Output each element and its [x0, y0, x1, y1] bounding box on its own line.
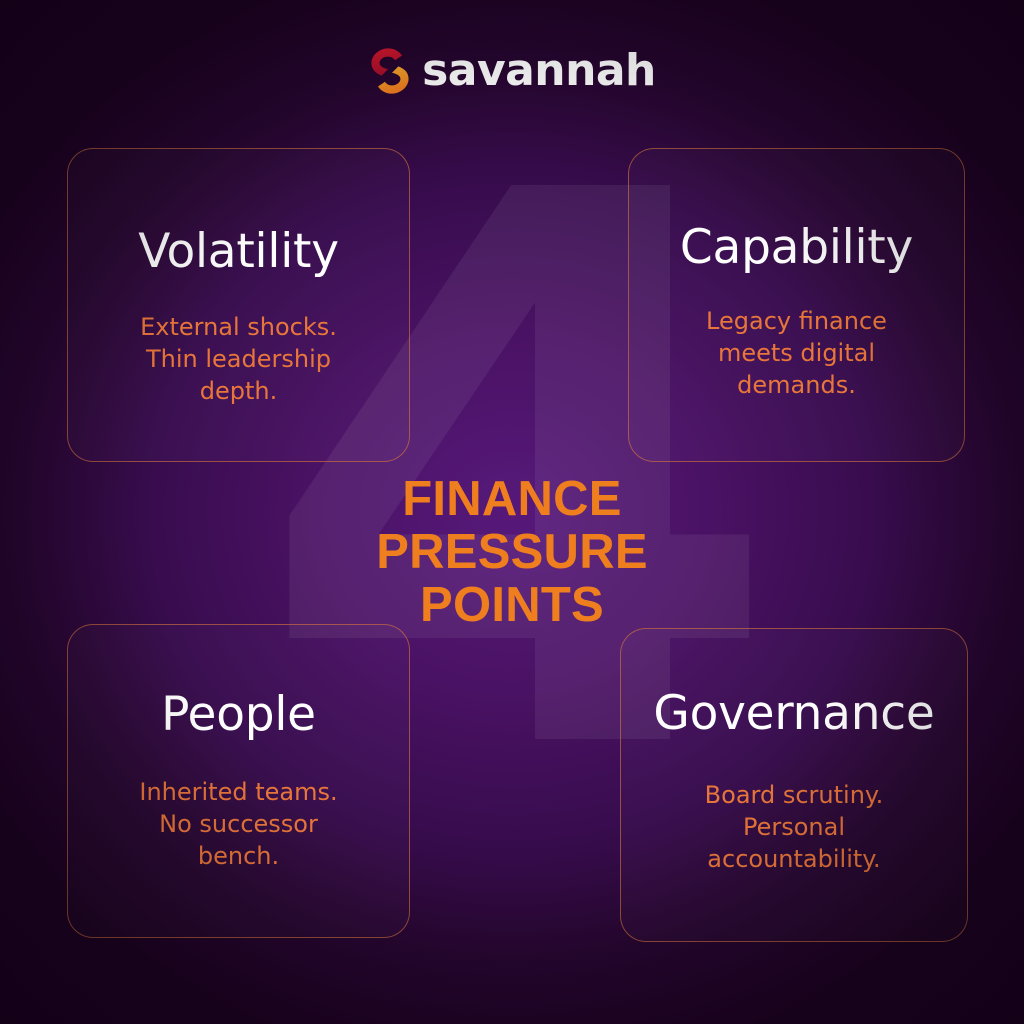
- card-description: Board scrutiny. Personal accountability.: [705, 780, 884, 876]
- card-description-line: meets digital: [718, 339, 875, 367]
- card-title: Volatility: [138, 227, 339, 278]
- card-volatility[interactable]: Volatility External shocks. Thin leaders…: [67, 148, 410, 462]
- card-people[interactable]: People Inherited teams. No successor ben…: [67, 624, 410, 938]
- card-description-line: Inherited teams.: [139, 778, 337, 806]
- headline-line-3: POINTS: [282, 579, 742, 632]
- card-description-line: Legacy finance: [706, 307, 887, 335]
- savannah-s-logo-icon: [368, 46, 412, 96]
- card-title: Governance: [653, 689, 934, 740]
- brand-logo: savannah: [0, 40, 1024, 102]
- card-description-line: accountability.: [707, 845, 880, 873]
- card-description-line: demands.: [737, 371, 856, 399]
- card-description-line: Personal: [743, 813, 845, 841]
- card-description-line: No successor: [159, 810, 318, 838]
- card-description-line: External shocks.: [140, 313, 337, 341]
- card-description-line: Thin leadership: [146, 345, 331, 373]
- card-description-line: bench.: [198, 842, 279, 870]
- card-description-line: Board scrutiny.: [705, 781, 884, 809]
- brand-wordmark: savannah: [422, 49, 656, 93]
- card-description: External shocks. Thin leadership depth.: [140, 312, 337, 408]
- card-description-line: depth.: [200, 377, 277, 405]
- headline-line-1: FINANCE: [282, 473, 742, 526]
- card-title: Capability: [680, 223, 913, 274]
- card-capability[interactable]: Capability Legacy finance meets digital …: [628, 148, 965, 462]
- headline-line-2: PRESSURE: [282, 526, 742, 579]
- center-headline: FINANCE PRESSURE POINTS: [282, 473, 742, 632]
- card-description: Legacy finance meets digital demands.: [706, 306, 887, 402]
- card-governance[interactable]: Governance Board scrutiny. Personal acco…: [620, 628, 968, 942]
- infographic-canvas: 4 savannah Volatility External s: [0, 0, 1024, 1024]
- card-description: Inherited teams. No successor bench.: [139, 777, 337, 873]
- card-title: People: [161, 690, 316, 741]
